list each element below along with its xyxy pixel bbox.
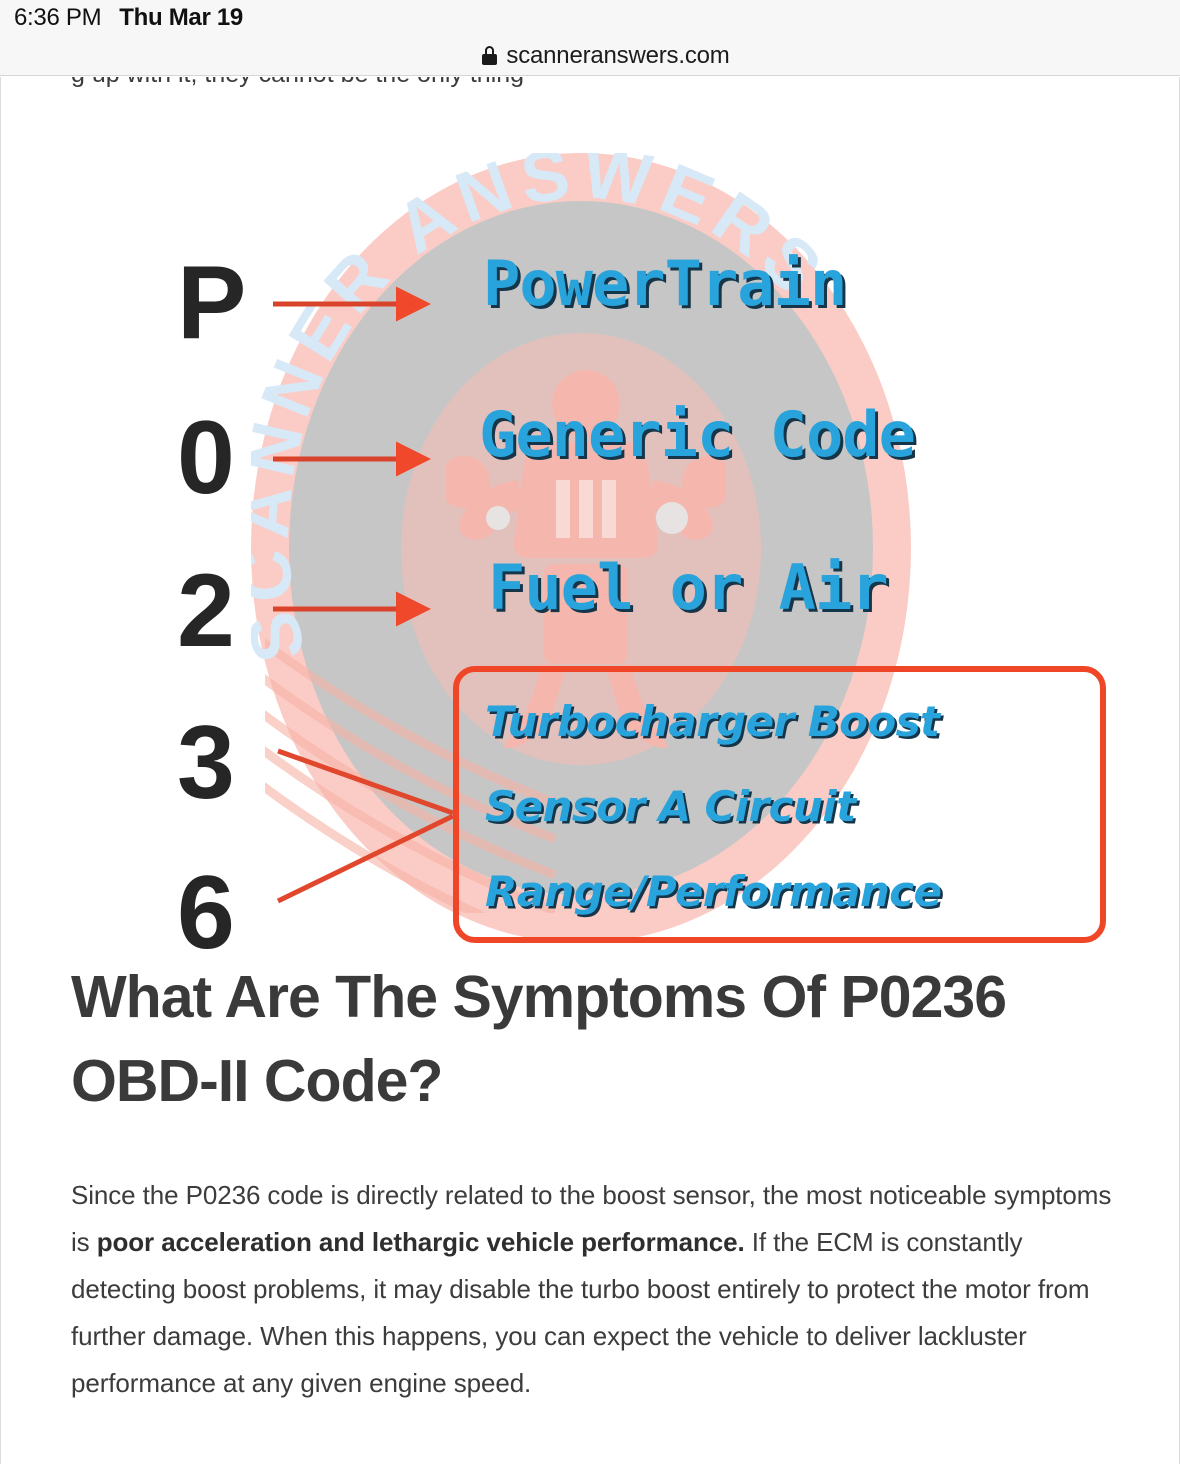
callout-line-3: Range/Performance — [485, 871, 941, 913]
status-bar-date: Thu Mar 19 — [119, 4, 243, 32]
callout-line-2: Sensor A Circuit — [485, 786, 856, 828]
callout-line-1: Turbocharger Boost — [485, 701, 940, 743]
browser-url-bar[interactable]: scanneranswers.com — [0, 36, 1180, 76]
article-heading: What Are The Symptoms Of P0236 OBD-II Co… — [71, 955, 1116, 1123]
label-fuel-or-air: Fuel or Air — [488, 557, 888, 619]
label-powertrain: PowerTrain — [483, 253, 846, 315]
lock-icon — [482, 46, 497, 65]
obd-code-infographic: SCANNER ANSWERS — [1, 101, 1179, 931]
web-page-content: g up with it, they cannot be the only th… — [0, 77, 1180, 1464]
status-bar: 6:36 PM Thu Mar 19 — [0, 0, 1180, 36]
paragraph-bold-phrase: poor acceleration and lethargic vehicle … — [97, 1227, 745, 1257]
status-bar-time: 6:36 PM — [14, 4, 101, 32]
label-generic-code: Generic Code — [479, 404, 915, 466]
callout-text-group: Turbocharger Boost Sensor A Circuit Rang… — [481, 693, 1091, 923]
screen: 6:36 PM Thu Mar 19 scanneranswers.com g … — [0, 0, 1180, 1464]
article-paragraph: Since the P0236 code is directly related… — [71, 1172, 1121, 1407]
clipped-paragraph-line: g up with it, they cannot be the only th… — [71, 77, 1081, 95]
url-host-text: scanneranswers.com — [506, 42, 729, 70]
url-display[interactable]: scanneranswers.com — [482, 42, 729, 70]
